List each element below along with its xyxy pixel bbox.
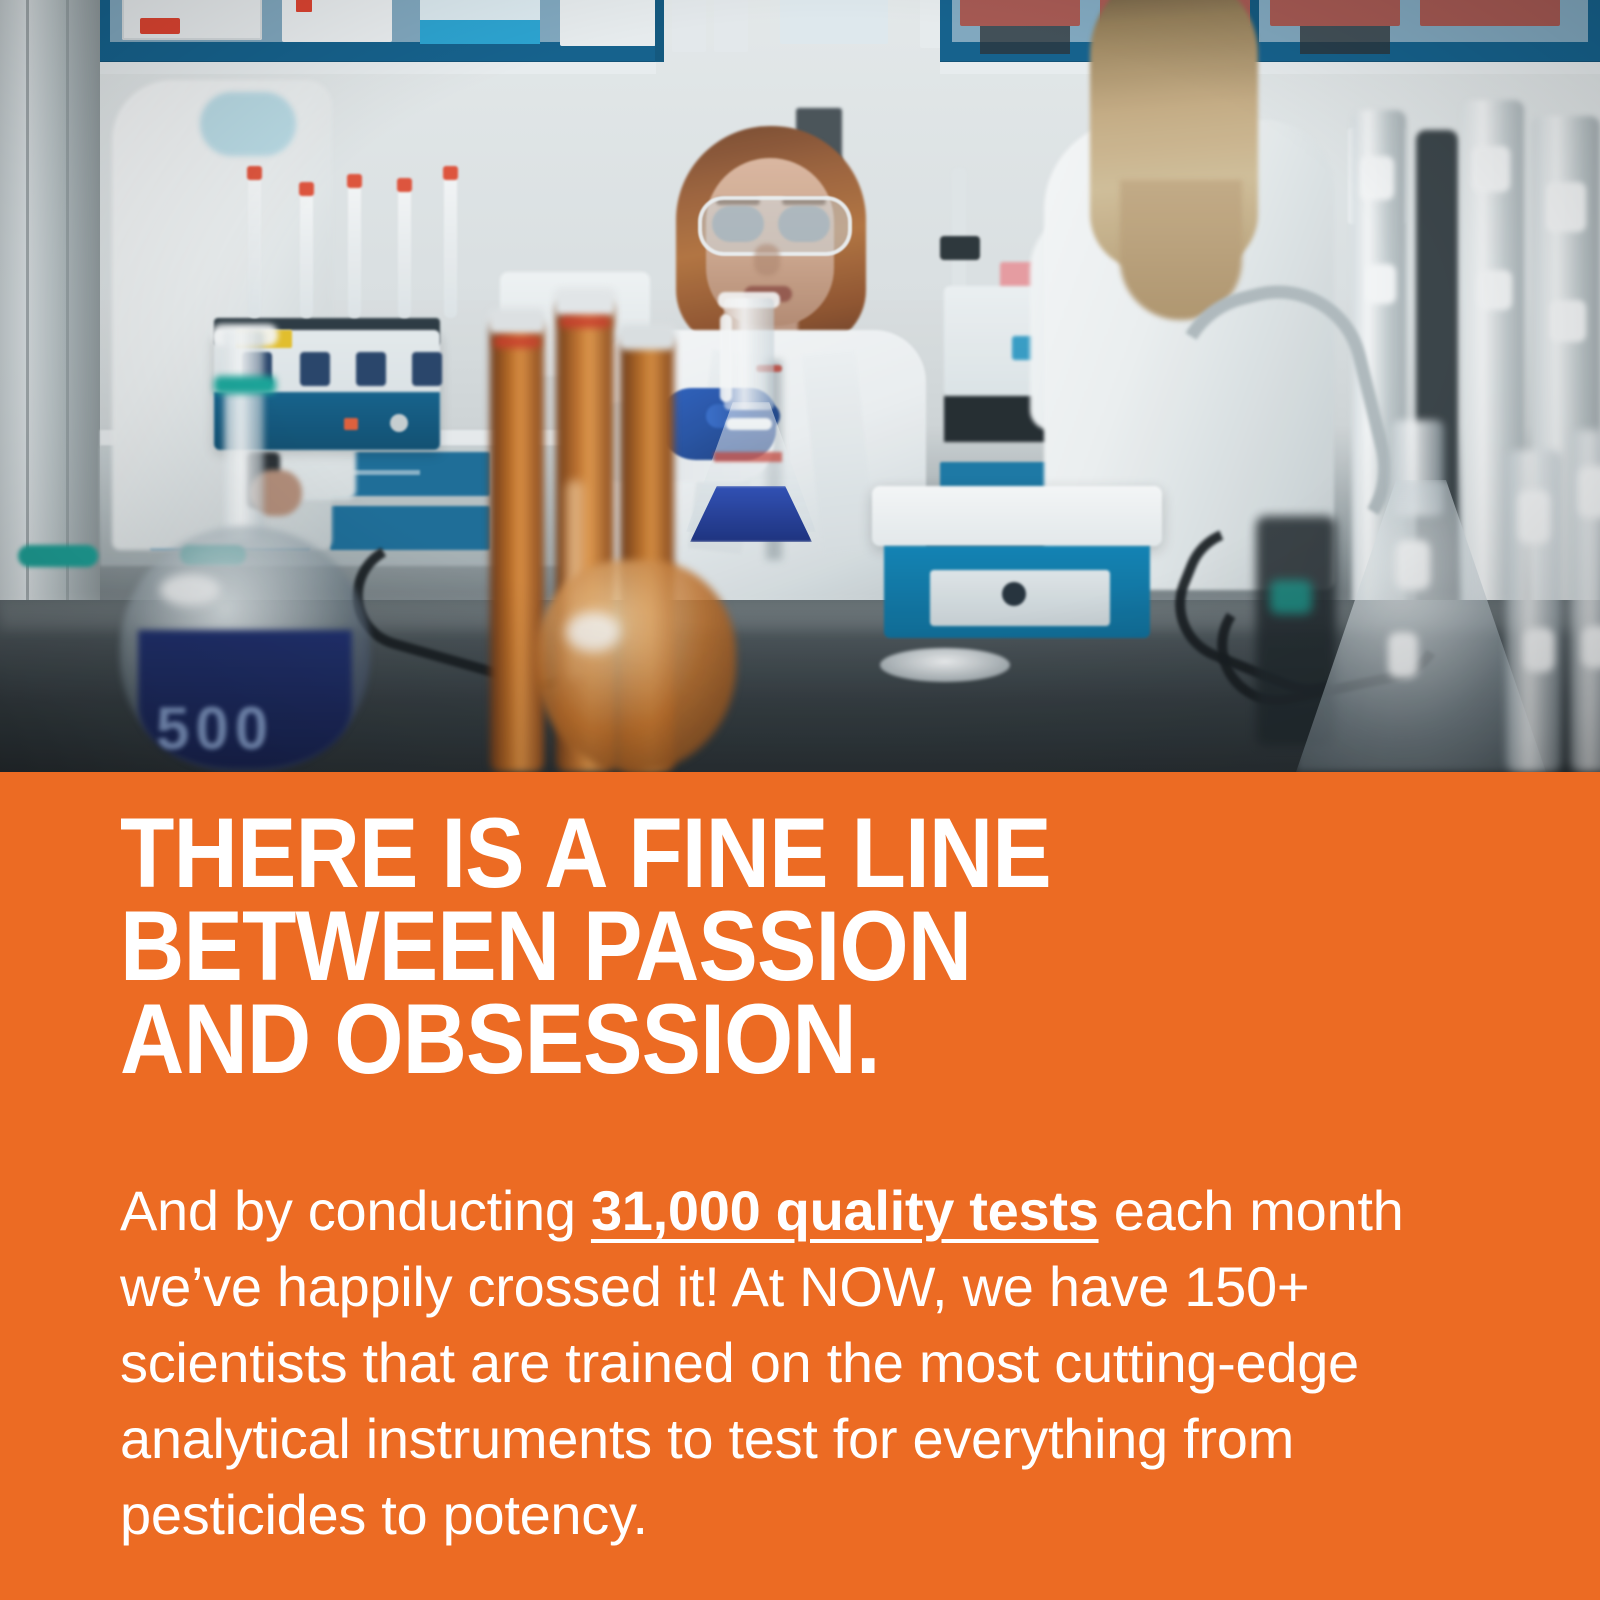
headline-line-2: BETWEEN PASSION bbox=[120, 899, 1380, 992]
lab-photo: 500 bbox=[0, 0, 1600, 772]
body-paragraph: And by conducting 31,000 quality tests e… bbox=[120, 1173, 1460, 1553]
headline-line-3: AND OBSESSION. bbox=[120, 992, 1380, 1085]
orange-content-panel: THERE IS A FINE LINE BETWEEN PASSION AND… bbox=[0, 772, 1600, 1600]
stat-emphasis-quality-tests: 31,000 quality tests bbox=[591, 1179, 1099, 1242]
photo-vignette bbox=[0, 0, 1600, 772]
headline-line-1: THERE IS A FINE LINE bbox=[120, 806, 1380, 899]
poster: 500 bbox=[0, 0, 1600, 1600]
headline: THERE IS A FINE LINE BETWEEN PASSION AND… bbox=[120, 806, 1380, 1085]
body-text-before: And by conducting bbox=[120, 1179, 591, 1242]
